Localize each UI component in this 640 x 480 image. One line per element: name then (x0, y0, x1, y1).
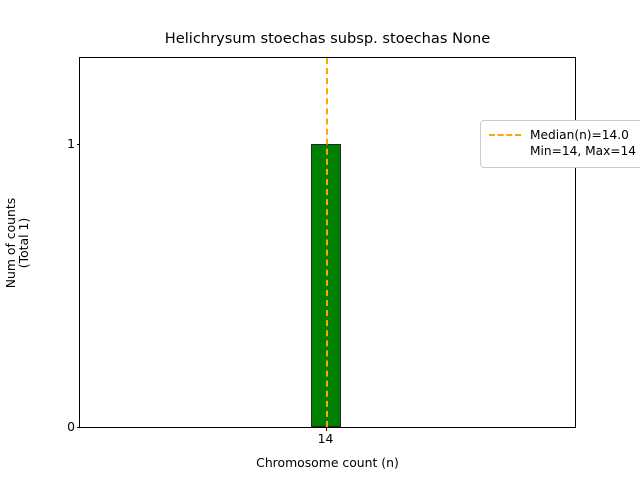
xtick-mark-0 (326, 427, 327, 431)
x-axis-label: Chromosome count (n) (79, 455, 576, 470)
plot-area: 0 1 14 Median(n)=14.0 Min=14, Max=14 (79, 57, 576, 428)
chart-figure: Helichrysum stoechas subsp. stoechas Non… (0, 0, 640, 480)
ytick-label-0: 0 (67, 421, 75, 433)
y-axis-label-line2: (Total 1) (16, 217, 31, 267)
ytick-mark-1 (77, 144, 81, 145)
legend-entry-median: Median(n)=14.0 (489, 127, 640, 143)
ytick-label-1: 1 (67, 137, 75, 149)
xtick-label-0: 14 (318, 433, 334, 445)
legend-label-median: Median(n)=14.0 (530, 127, 629, 143)
legend-entry-minmax: Min=14, Max=14 (489, 143, 640, 159)
y-axis-label-wrap: Num of counts (Total 1) (0, 57, 34, 428)
ytick-mark-0 (77, 427, 81, 428)
legend-label-minmax: Min=14, Max=14 (530, 143, 636, 159)
y-axis-label: Num of counts (Total 1) (4, 197, 30, 287)
dashed-line-icon (489, 134, 521, 136)
chart-title: Helichrysum stoechas subsp. stoechas Non… (79, 30, 576, 47)
chart-legend: Median(n)=14.0 Min=14, Max=14 (480, 120, 640, 168)
median-line (326, 58, 328, 427)
